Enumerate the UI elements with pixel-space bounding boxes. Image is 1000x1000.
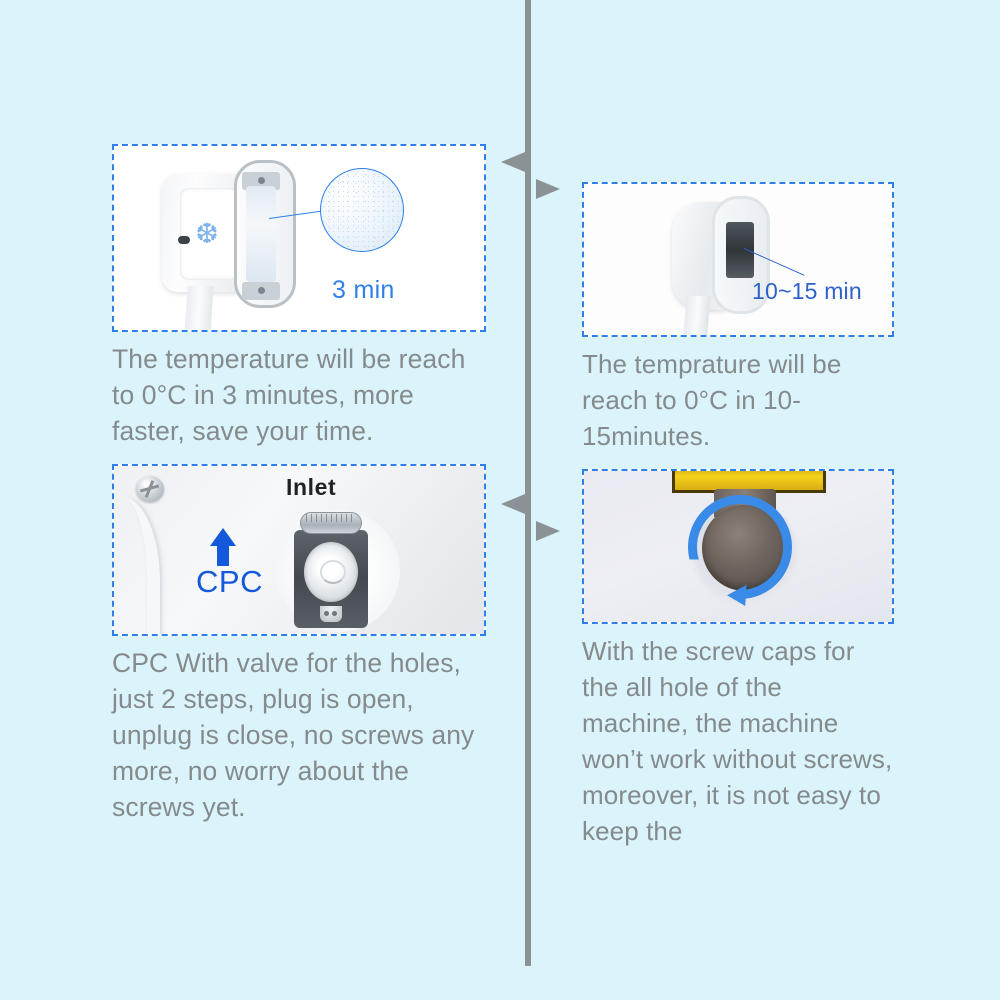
arrow-up-icon-stem bbox=[217, 544, 229, 566]
caption-competitor-handpiece: The temprature will be reach to 0°C in 1… bbox=[582, 337, 894, 454]
triangle-left-icon-row2 bbox=[501, 494, 525, 514]
frost-texture bbox=[321, 169, 403, 251]
screw-cap-panel bbox=[582, 469, 894, 624]
cpc-text-label: CPC bbox=[196, 564, 263, 600]
clamp-screw-top bbox=[258, 177, 265, 184]
clamp-screw-bottom bbox=[258, 287, 265, 294]
competitor-handle bbox=[681, 296, 710, 337]
handpiece-cable bbox=[184, 286, 213, 332]
triangle-left-icon-row1 bbox=[501, 152, 525, 172]
valve-cap-ridges bbox=[306, 514, 356, 522]
valve-opening bbox=[304, 542, 358, 602]
caption-screw-cap: With the screw caps for the all hole of … bbox=[582, 624, 894, 849]
competitor-handpiece-panel: 10~15 min bbox=[582, 182, 894, 337]
frost-texture-zoom-circle bbox=[320, 168, 404, 252]
panel-screw bbox=[136, 476, 164, 502]
cpc-inlet-valve-panel: Inlet CPC bbox=[112, 464, 486, 636]
snowflake-icon: ❆ bbox=[193, 220, 221, 248]
frost-cooling-pad bbox=[246, 186, 276, 282]
handpiece-port bbox=[178, 236, 190, 244]
triangle-right-icon-row2 bbox=[536, 521, 560, 541]
inlet-text-label: Inlet bbox=[286, 474, 336, 501]
left-column: ❆ 3 min The temperature will be reach to… bbox=[112, 144, 490, 825]
right-column: 10~15 min The temprature will be reach t… bbox=[582, 182, 894, 849]
caption-cryo-handpiece: The temperature will be reach to 0°C in … bbox=[112, 332, 490, 449]
duration-label-10-15min: 10~15 min bbox=[752, 278, 862, 305]
duration-label-3min: 3 min bbox=[332, 276, 395, 305]
cryo-handpiece-panel: ❆ 3 min bbox=[112, 144, 486, 332]
caption-cpc-valve: CPC With valve for the holes, just 2 ste… bbox=[112, 636, 490, 825]
triangle-right-icon-row1 bbox=[536, 179, 560, 199]
valve-latch bbox=[320, 606, 342, 622]
center-divider bbox=[525, 0, 531, 966]
